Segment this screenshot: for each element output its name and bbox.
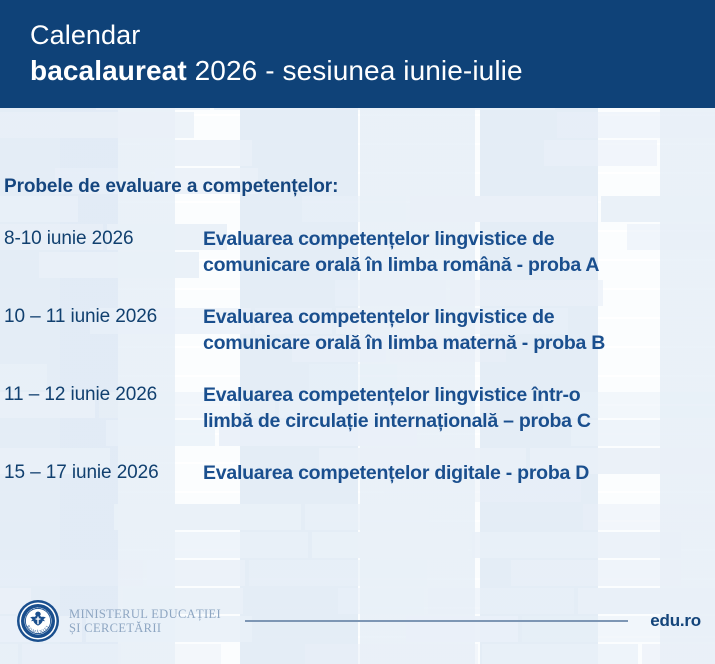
- schedule-row: 10 – 11 iunie 2026Evaluarea competențelo…: [4, 304, 701, 356]
- schedule-row-description-line: Evaluarea competențelor lingvistice de: [203, 226, 701, 252]
- poster-footer: GUVERNUL ROMÂNIEI MINISTERUL EDUCAȚIEI Ș…: [0, 578, 715, 664]
- schedule-row-description-line: comunicare orală în limba română - proba…: [203, 252, 701, 278]
- schedule-row-date: 8-10 iunie 2026: [4, 226, 203, 252]
- schedule-row-description-line: Evaluarea competențelor digitale - proba…: [203, 460, 701, 486]
- schedule-row-description: Evaluarea competențelor digitale - proba…: [203, 460, 701, 486]
- schedule-row-description: Evaluarea competențelor lingvistice deco…: [203, 304, 701, 356]
- header-title-bold: bacalaureat: [30, 55, 187, 86]
- ministry-name-line1: MINISTERUL EDUCAȚIEI: [69, 607, 221, 621]
- schedule-row: 8-10 iunie 2026Evaluarea competențelor l…: [4, 226, 701, 278]
- poster-header: Calendar bacalaureat 2026 - sesiunea iun…: [0, 0, 715, 108]
- schedule-row-description: Evaluarea competențelor lingvistice deco…: [203, 226, 701, 278]
- poster-root: Calendar bacalaureat 2026 - sesiunea iun…: [0, 0, 715, 664]
- schedule-row-description: Evaluarea competențelor lingvistice într…: [203, 382, 701, 434]
- schedule-row: 15 – 17 iunie 2026Evaluarea competențelo…: [4, 460, 701, 486]
- schedule-row-description-line: Evaluarea competențelor lingvistice într…: [203, 382, 701, 408]
- ministry-name: MINISTERUL EDUCAȚIEI ȘI CERCETĂRII: [69, 607, 221, 635]
- schedule-row-date: 15 – 17 iunie 2026: [4, 460, 203, 486]
- ministry-name-line2: ȘI CERCETĂRII: [69, 621, 221, 635]
- schedule-list: 8-10 iunie 2026Evaluarea competențelor l…: [4, 226, 701, 486]
- schedule-row-description-line: limbă de circulație internațională – pro…: [203, 408, 701, 434]
- footer-divider-rule: [245, 620, 628, 622]
- schedule-row-description-line: Evaluarea competențelor lingvistice de: [203, 304, 701, 330]
- romanian-government-seal-icon: GUVERNUL ROMÂNIEI: [16, 599, 60, 643]
- schedule-row: 11 – 12 iunie 2026Evaluarea competențelo…: [4, 382, 701, 434]
- header-title-line2: bacalaureat 2026 - sesiunea iunie-iulie: [30, 53, 715, 89]
- header-title-line1: Calendar: [30, 19, 715, 52]
- schedule-row-date: 10 – 11 iunie 2026: [4, 304, 203, 330]
- schedule-row-date: 11 – 12 iunie 2026: [4, 382, 203, 408]
- poster-content: Probele de evaluare a competențelor: 8-1…: [0, 108, 715, 578]
- header-title-rest: 2026 - sesiunea iunie-iulie: [187, 55, 523, 86]
- section-title: Probele de evaluare a competențelor:: [4, 176, 338, 198]
- schedule-row-description-line: comunicare orală în limba maternă - prob…: [203, 330, 701, 356]
- website-label: edu.ro: [650, 611, 701, 631]
